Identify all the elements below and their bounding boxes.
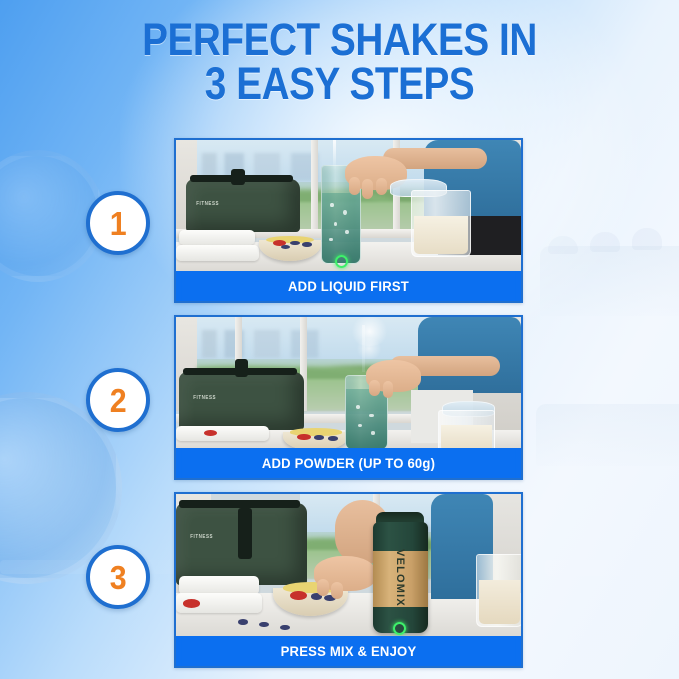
scene-finger — [376, 178, 387, 195]
step-caption: PRESS MIX & ENJOY — [181, 636, 516, 666]
step-number-badge: 2 — [86, 368, 150, 432]
scene-gym-bag-handle — [238, 508, 252, 559]
scene-protein-jar — [411, 190, 472, 258]
scene-blueberry — [328, 436, 338, 441]
scene-shaker-led-icon — [335, 255, 348, 268]
infographic-canvas: PERFECT SHAKES IN 3 EASY STEPS 1 — [0, 0, 679, 679]
step-number-label: 2 — [110, 384, 127, 417]
scene-strawberry — [297, 434, 311, 441]
scene-shaker-liquid — [322, 193, 360, 263]
scene-blueberry — [238, 619, 248, 625]
scene-bubble — [330, 203, 333, 207]
scene-gym-bag-label: FITNESS — [193, 395, 216, 401]
scene-towel — [176, 426, 269, 442]
scene-add-powder: FITNESS — [176, 317, 521, 448]
scene-strawberry — [183, 599, 200, 608]
step-number-badge: 3 — [86, 545, 150, 609]
scene-milk-fill — [479, 580, 520, 624]
scene-towel — [176, 245, 259, 261]
scene-bubble — [356, 405, 360, 409]
scene-gym-bag: FITNESS — [179, 372, 303, 430]
scene-bottle-brand-label: VELOMIX — [394, 549, 406, 607]
scene-gym-bag-label: FITNESS — [190, 534, 213, 540]
scene-finger — [383, 381, 393, 398]
scene-bubble — [371, 431, 375, 434]
scene-finger — [362, 179, 373, 199]
scene-window-mullion — [311, 140, 318, 234]
scene-person-torso — [418, 317, 522, 393]
scene-gym-bag-handle — [231, 169, 245, 185]
scene-gym-bag-strap — [179, 500, 300, 509]
scene-towel — [179, 576, 258, 594]
scene-blueberry — [281, 245, 290, 249]
step-number-label: 1 — [110, 207, 127, 240]
scene-press-mix: FITNESS — [176, 494, 521, 636]
scene-gym-bag-handle — [235, 359, 249, 377]
scene-blueberry — [280, 625, 290, 631]
step-card: FITNESS — [174, 138, 523, 303]
scene-finger — [369, 380, 379, 396]
step-photo: FITNESS — [176, 317, 521, 448]
step-photo: FITNESS — [176, 494, 521, 636]
step-caption: ADD POWDER (UP TO 60g) — [181, 448, 516, 478]
scene-protein-powder — [441, 425, 492, 448]
step-item: 1 — [0, 134, 679, 311]
scene-gym-bag-label: FITNESS — [197, 201, 220, 207]
step-photo: FITNESS — [176, 140, 521, 271]
scene-protein-jar — [438, 410, 495, 448]
page-title-line-2: 3 EASY STEPS — [48, 62, 632, 106]
scene-finger — [317, 579, 329, 596]
step-card: FITNESS — [174, 315, 523, 480]
step-caption: ADD LIQUID FIRST — [181, 271, 516, 301]
scene-bubble — [334, 222, 337, 226]
page-title-line-1: PERFECT SHAKES IN — [48, 18, 632, 62]
scene-blueberry — [314, 435, 324, 440]
scene-milk-glass — [476, 554, 521, 627]
scene-protein-powder — [414, 216, 469, 254]
steps-list: 1 — [0, 134, 679, 665]
page-title: PERFECT SHAKES IN 3 EASY STEPS — [48, 18, 632, 106]
scene-finger — [331, 582, 343, 599]
step-number-label: 3 — [110, 561, 127, 594]
scene-powder-stream — [362, 325, 365, 372]
scene-towel — [179, 230, 255, 244]
step-item: 3 FITNESS — [0, 488, 679, 665]
step-number-badge: 1 — [86, 191, 150, 255]
scene-add-liquid: FITNESS — [176, 140, 521, 271]
scene-powder-cloud — [355, 338, 383, 359]
scene-finger — [349, 177, 360, 195]
scene-shaker-liquid — [346, 389, 387, 448]
scene-velomix-bottle: VELOMIX — [373, 522, 428, 633]
step-card: FITNESS — [174, 492, 523, 668]
scene-blueberry — [302, 242, 312, 247]
step-item: 2 — [0, 311, 679, 488]
scene-gym-bag: FITNESS — [186, 179, 300, 231]
